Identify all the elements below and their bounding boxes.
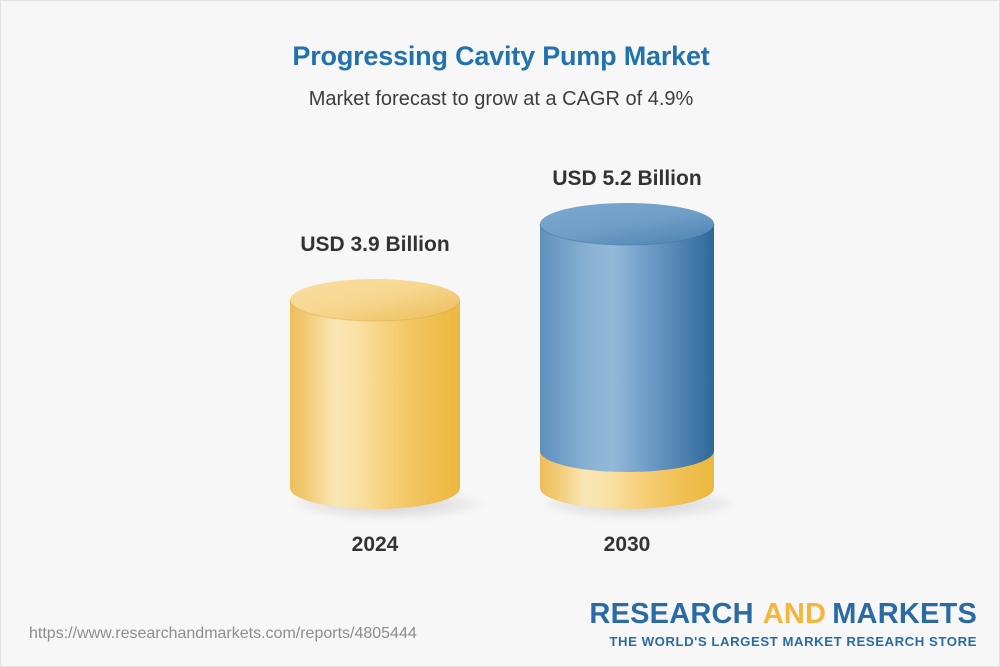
bar-segment-blue-2030: [540, 224, 714, 472]
bar-cylinder-2030[interactable]: [540, 203, 714, 519]
chart-card: Progressing Cavity Pump Market Market fo…: [0, 0, 1000, 667]
bar-value-label-2030: USD 5.2 Billion: [540, 167, 714, 191]
bar-category-label-2024: 2024: [290, 533, 460, 557]
bar-group-2030: USD 5.2 Billion: [540, 151, 714, 571]
brand-logo[interactable]: RESEARCHANDMARKETS THE WORLD'S LARGEST M…: [589, 600, 977, 648]
plot-area: USD 3.9 Billion: [1, 1, 1000, 601]
logo-word-markets: MARKETS: [832, 598, 977, 630]
bar-body-2024: [290, 300, 460, 509]
bar-category-label-2030: 2030: [540, 533, 714, 557]
source-url[interactable]: https://www.researchandmarkets.com/repor…: [29, 625, 417, 643]
logo-wordmark: RESEARCHANDMARKETS: [589, 600, 977, 629]
logo-tagline: THE WORLD'S LARGEST MARKET RESEARCH STOR…: [589, 635, 977, 648]
bar-value-label-2024: USD 3.9 Billion: [290, 233, 460, 257]
bar-group-2024: USD 3.9 Billion: [290, 151, 460, 571]
logo-word-research: RESEARCH: [589, 598, 753, 630]
bar-cylinder-2024[interactable]: [290, 279, 460, 519]
logo-word-and: AND: [763, 598, 826, 630]
